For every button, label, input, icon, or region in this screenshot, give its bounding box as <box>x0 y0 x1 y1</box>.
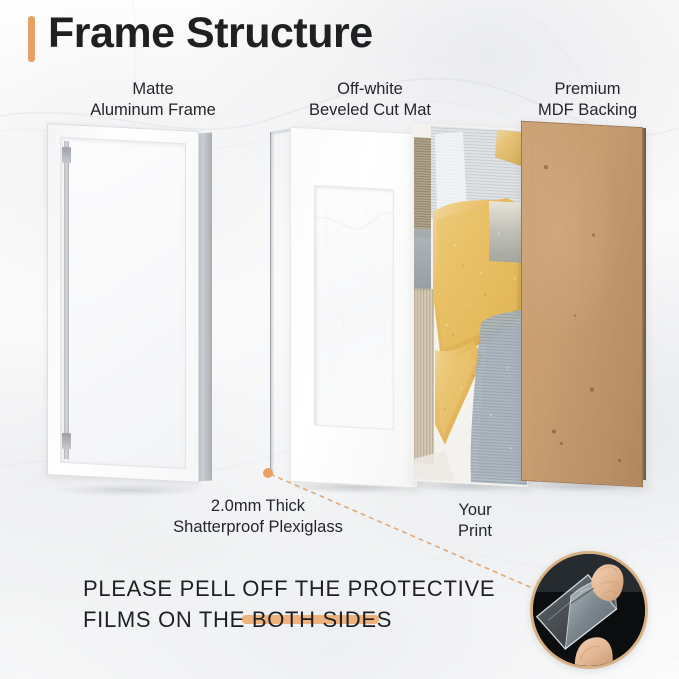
frame-inner-opening <box>60 137 186 470</box>
caption-line-2: Print <box>415 521 535 542</box>
caption-line-2: Shatterproof Plexiglass <box>118 517 398 538</box>
mdf-grain-texture <box>522 122 642 482</box>
mdf-speck <box>590 387 594 391</box>
mdf-speck <box>552 429 556 433</box>
infographic-canvas: Frame Structure Matte Aluminum Frame Off… <box>0 0 679 679</box>
title-accent-bar <box>28 16 35 62</box>
mdf-speck <box>618 459 621 462</box>
frame-clip-bottom <box>62 433 71 449</box>
frame-inner-rail <box>64 141 69 460</box>
mdf-front-face <box>521 121 643 487</box>
film-peel-illustration <box>533 554 645 666</box>
mat-cut-window <box>314 185 394 430</box>
caption-your-print: Your Print <box>415 500 535 542</box>
caption-line-1: Premium <box>500 79 675 100</box>
mat-front-face <box>290 127 418 489</box>
notice-line-1: PLEASE PELL OFF THE PROTECTIVE <box>83 573 495 604</box>
caption-line-2: MDF Backing <box>500 100 675 121</box>
caption-line-2: Beveled Cut Mat <box>255 100 485 121</box>
caption-line-2: Aluminum Frame <box>33 100 273 121</box>
abstract-artwork <box>411 123 528 487</box>
notice-line-2: FILMS ON THE BOTH SIDES <box>83 604 392 635</box>
frame-front-face <box>47 123 199 483</box>
page-title: Frame Structure <box>48 9 373 58</box>
callout-origin-dot <box>263 468 273 478</box>
layer-aluminum-frame <box>47 127 212 487</box>
layer-plexiglass <box>262 132 292 482</box>
caption-mdf-backing: Premium MDF Backing <box>500 79 675 121</box>
caption-beveled-mat: Off-white Beveled Cut Mat <box>255 79 485 121</box>
caption-line-1: Off-white <box>255 79 485 100</box>
mat-window-marble-texture <box>315 186 393 389</box>
frame-clip-top <box>62 147 71 163</box>
caption-line-1: 2.0mm Thick <box>118 496 398 517</box>
frame-drop-shadow <box>55 484 205 496</box>
mdf-speck <box>544 165 548 169</box>
caption-line-1: Your <box>415 500 535 521</box>
mdf-side-edge <box>643 128 646 480</box>
mdf-speck <box>560 442 563 445</box>
caption-line-1: Matte <box>33 79 273 100</box>
print-front-face <box>411 123 528 487</box>
protective-film-inset <box>530 551 648 669</box>
mdf-speck <box>574 315 576 317</box>
layer-beveled-mat <box>290 130 418 485</box>
plexiglass-sheet <box>270 132 274 474</box>
caption-aluminum-frame: Matte Aluminum Frame <box>33 79 273 121</box>
mdf-speck <box>592 234 595 237</box>
layer-art-print <box>411 126 528 484</box>
caption-plexiglass: 2.0mm Thick Shatterproof Plexiglass <box>118 496 398 538</box>
layer-mdf-backing <box>521 124 643 484</box>
